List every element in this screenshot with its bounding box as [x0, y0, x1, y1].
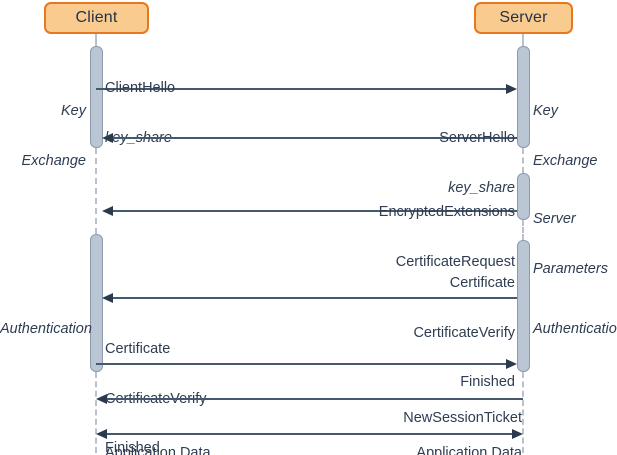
actor-box-server: Server	[474, 2, 573, 34]
message-text-server-hello: ServerHello	[250, 130, 515, 147]
tls-handshake-sequence-diagram: Client Server ClientHello key_share Serv…	[0, 0, 617, 455]
actor-label-server: Server	[499, 9, 547, 27]
message-text-client-hello: ClientHello	[105, 80, 355, 97]
phase-label-authentication-server: Authentication	[533, 288, 617, 371]
message-text-application-data-right: Application Data	[300, 445, 522, 455]
arrowhead-client-certificate	[506, 359, 517, 369]
activation-bar-server-key-exchange	[517, 46, 530, 148]
message-text-encrypted-extensions: EncryptedExtensions	[250, 204, 515, 221]
phase-label-key-exchange-client: Key Exchange	[0, 70, 86, 202]
arrowhead-server-certificate	[102, 293, 113, 303]
phase-text-authentication-client: Authentication	[0, 321, 86, 338]
activation-bar-server-authentication	[517, 240, 530, 372]
phase-label-authentication-client: Authentication	[0, 288, 86, 371]
phase-text-key-exchange-client-line2: Exchange	[0, 153, 86, 170]
actor-label-client: Client	[75, 9, 117, 27]
phase-text-server-parameters-line1: Server	[533, 211, 617, 228]
arrowhead-encrypted-extensions	[102, 206, 113, 216]
arrowhead-client-hello	[506, 84, 517, 94]
lifeline-client-seg-top	[95, 34, 97, 46]
message-text-server-certificate: Certificate	[250, 275, 515, 292]
lifeline-server-seg-a	[522, 148, 524, 173]
phase-text-key-exchange-server-line2: Exchange	[533, 153, 617, 170]
lifeline-server-seg-top	[522, 34, 524, 46]
lifeline-server-seg-b	[522, 220, 524, 240]
arrowhead-new-session-ticket	[96, 394, 107, 404]
activation-bar-client-authentication	[90, 234, 103, 372]
actor-box-client: Client	[44, 2, 149, 34]
message-label-application-data-left: Application Data	[105, 412, 325, 455]
lifeline-server-seg-bottom	[522, 372, 524, 453]
activation-bar-server-parameters	[517, 173, 530, 220]
arrowhead-server-hello	[102, 133, 113, 143]
lifeline-client-seg-mid	[95, 148, 97, 234]
message-text-application-data-left: Application Data	[105, 445, 325, 455]
message-text-client-certificate: Certificate	[105, 341, 370, 358]
phase-text-key-exchange-client-line1: Key	[0, 103, 86, 120]
lifeline-client-seg-bottom	[95, 372, 97, 453]
phase-text-server-parameters-line2: Parameters	[533, 261, 617, 278]
phase-text-key-exchange-server-line1: Key	[533, 103, 617, 120]
message-label-application-data-right: Application Data	[300, 412, 522, 455]
phase-text-authentication-server: Authentication	[533, 321, 617, 338]
